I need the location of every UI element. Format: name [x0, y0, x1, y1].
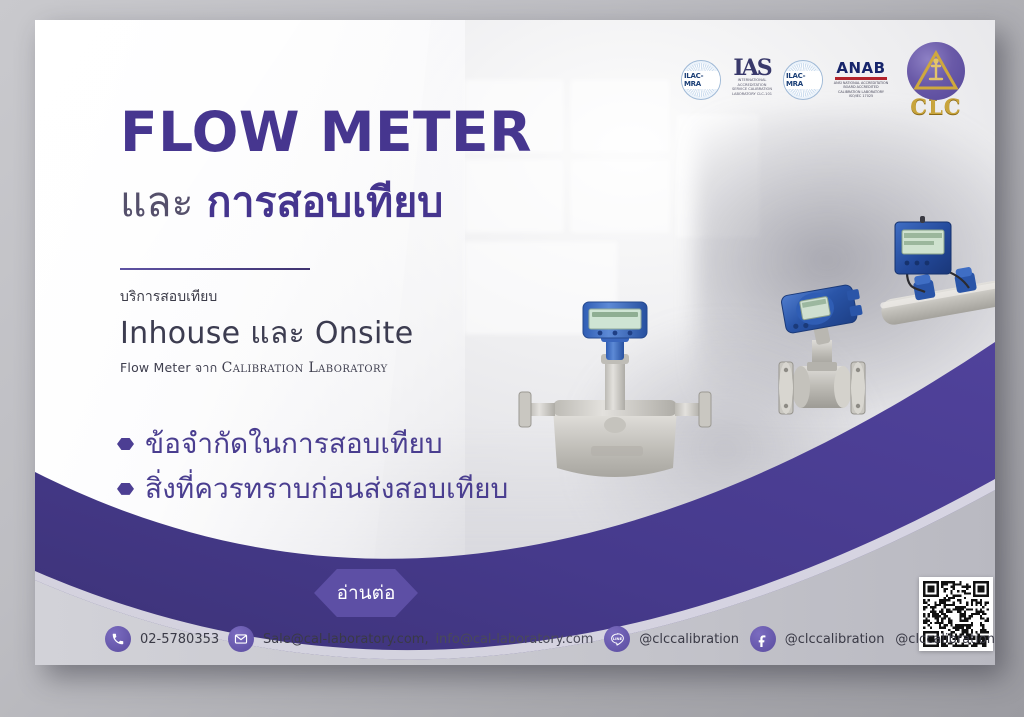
topic-list: ข้อจำกัดในการสอบเทียบ สิ่งที่ควรทราบก่อน…: [117, 426, 557, 516]
page-title: FLOW METER: [120, 105, 532, 160]
service-source-prefix: Flow Meter จาก: [120, 360, 222, 375]
ilac-mra-label-2: ILAC-MRA: [784, 71, 822, 89]
contact-line[interactable]: LINE @clccalibration: [604, 626, 739, 652]
subtitle-conjunction: และ: [120, 178, 194, 226]
title-divider: [120, 268, 310, 270]
facebook-icon: [750, 626, 776, 652]
service-label: บริการสอบเทียบ: [120, 286, 217, 308]
line-icon: LINE: [604, 626, 630, 652]
ias-caption: INTERNATIONAL ACCREDITATION SERVICE CALI…: [730, 78, 774, 96]
extra-handle: @clccalibration: [895, 632, 995, 647]
service-source-org: Calibration Laboratory: [222, 360, 388, 376]
contact-facebook[interactable]: @clccalibration: [750, 626, 885, 652]
service-modes: Inhouse และ Onsite: [120, 310, 413, 357]
anab-logo: ANAB ANSI NATIONAL ACCREDITATION BOARD A…: [832, 61, 890, 99]
list-item-label: ข้อจำกัดในการสอบเทียบ: [145, 426, 443, 462]
bullet-diamond-icon: [117, 438, 134, 450]
product-vortex-flow-meter: [757, 278, 887, 430]
ias-mark: IAS: [733, 59, 770, 79]
clc-emblem-icon: [907, 42, 965, 100]
email-primary: Sale@cal-laboratory.com,: [263, 632, 429, 647]
list-item: ข้อจำกัดในการสอบเทียบ: [117, 426, 557, 462]
contact-bar: 02-5780353 Sale@cal-laboratory.com, info…: [35, 613, 995, 665]
line-handle: @clccalibration: [639, 632, 739, 647]
phone-icon: [105, 626, 131, 652]
service-source: Flow Meter จาก Calibration Laboratory: [120, 358, 388, 378]
product-ultrasonic-clamp-on-flow-meter: [873, 212, 995, 340]
facebook-handle: @clccalibration: [785, 632, 885, 647]
svg-text:LINE: LINE: [613, 636, 623, 640]
anab-mark: ANAB: [836, 61, 885, 76]
bullet-diamond-icon: [117, 483, 134, 495]
ilac-mra-logo-1: ILAC-MRA: [681, 60, 721, 100]
list-item-label: สิ่งที่ควรทราบก่อนส่งสอบเทียบ: [145, 471, 508, 507]
clc-logo: CLC: [899, 42, 973, 117]
ilac-mra-logo-2: ILAC-MRA: [783, 60, 823, 100]
accreditation-logo-row: ILAC-MRA IAS INTERNATIONAL ACCREDITATION…: [681, 42, 973, 117]
contact-email[interactable]: Sale@cal-laboratory.com,: [228, 626, 429, 652]
poster-card: ILAC-MRA IAS INTERNATIONAL ACCREDITATION…: [35, 20, 995, 665]
page-subtitle: และ การสอบเทียบ: [120, 180, 443, 225]
anab-rule: [835, 77, 887, 80]
subtitle-topic: การสอบเทียบ: [207, 178, 444, 226]
ilac-mra-label-1: ILAC-MRA: [682, 71, 720, 89]
contact-phone[interactable]: 02-5780353: [105, 626, 219, 652]
email-icon: [228, 626, 254, 652]
email-secondary: info@cal-laboratory.com: [435, 632, 593, 647]
phone-number: 02-5780353: [140, 632, 219, 647]
ias-logo: IAS INTERNATIONAL ACCREDITATION SERVICE …: [730, 59, 774, 101]
anab-caption: ANSI NATIONAL ACCREDITATION BOARD ACCRED…: [833, 81, 889, 99]
read-more-label: อ่านต่อ: [337, 578, 396, 608]
list-item: สิ่งที่ควรทราบก่อนส่งสอบเทียบ: [117, 471, 557, 507]
